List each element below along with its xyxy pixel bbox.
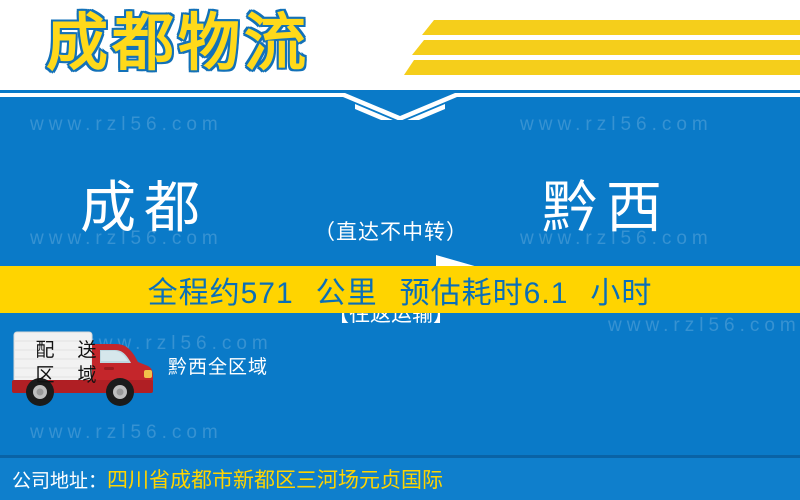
distance-prefix: 全程约: [148, 277, 241, 310]
banner-header: 成都物流: [0, 0, 800, 90]
decorative-stripes: [404, 8, 800, 82]
footer-bar: 公司地址： 四川省成都市新都区三河场元贞国际: [0, 455, 800, 500]
logistics-banner: 成都物流 www.rzl56.com www.rzl56.com www.rzl…: [0, 0, 800, 500]
direct-service-note: （直达不中转）: [276, 216, 506, 246]
watermark: www.rzl56.com: [30, 422, 223, 444]
brand-title: 成都物流: [46, 2, 310, 86]
destination-city: 黔西: [542, 162, 670, 254]
chevron-down-icon: [0, 90, 800, 120]
distance-unit: 公里: [316, 277, 378, 310]
duration-value: 6.1: [524, 277, 569, 310]
delivery-truck-icon: [8, 330, 156, 406]
distance-value: 571: [241, 277, 294, 310]
distance-bar: 全程约571公里预估耗时6.1小时: [0, 266, 800, 313]
address-label: 公司地址：: [0, 466, 107, 493]
main-panel: www.rzl56.com www.rzl56.com www.rzl56.co…: [0, 90, 800, 455]
distance-summary: 全程约571公里预估耗时6.1小时: [148, 268, 653, 312]
duration-unit: 小时: [590, 277, 652, 310]
duration-prefix: 预估耗时: [400, 277, 524, 310]
delivery-row: 配 送 区 域 黔西全区域: [0, 330, 800, 408]
company-address: 四川省成都市新都区三河场元贞国际: [107, 464, 443, 494]
route-row: 成都 黔西 （直达不中转） 【往返运输】: [0, 162, 800, 254]
origin-city: 成都: [80, 162, 208, 254]
coverage-area-text: 黔西全区域: [168, 352, 268, 379]
